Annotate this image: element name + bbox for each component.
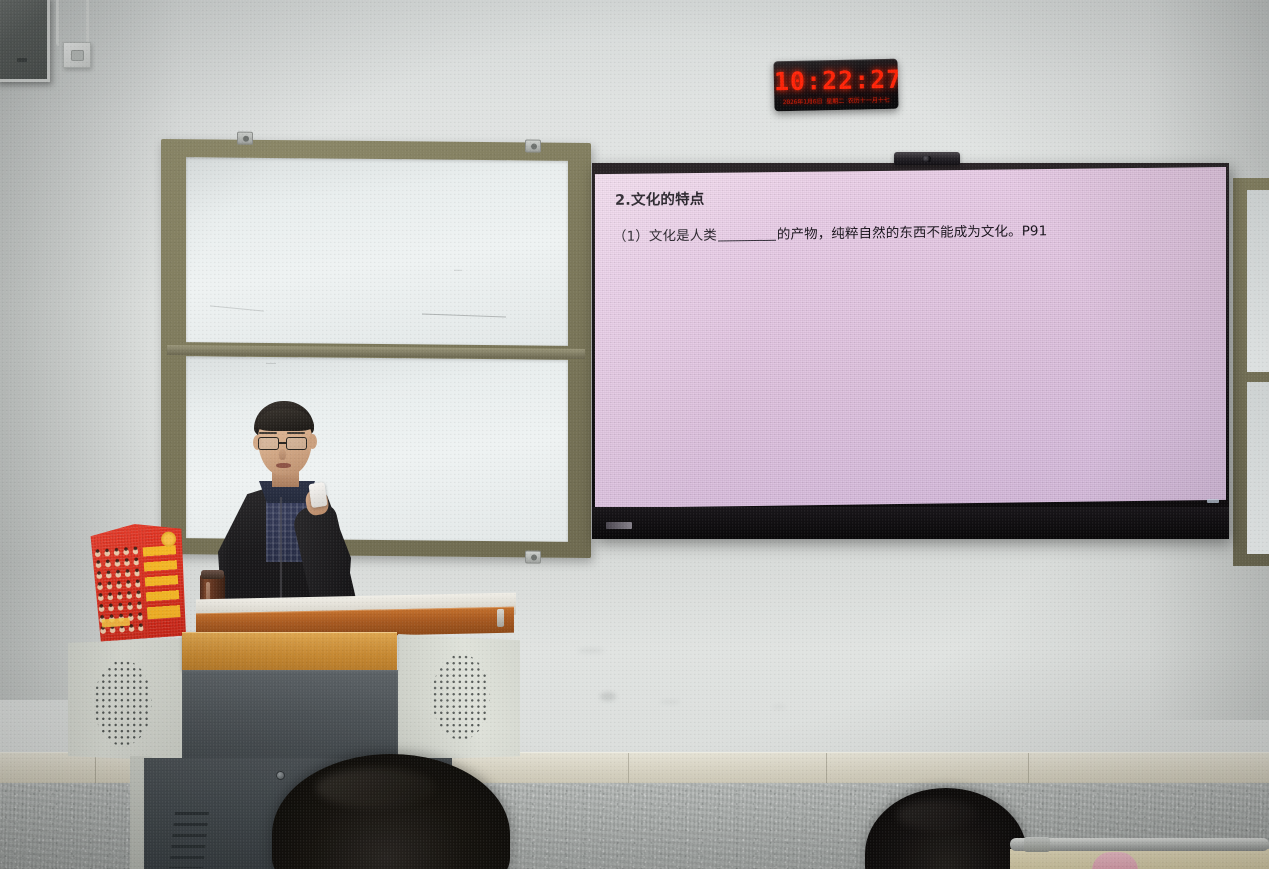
whiteboard-clip-right (525, 139, 541, 152)
classroom-photo-scene: 10:22:27 2026年1月6日 星期二 农历十一月十七 (0, 0, 1269, 869)
lecturer-glasses-right-lens (286, 437, 307, 450)
podium-front-wood-panel (182, 632, 397, 671)
speaker-port (17, 58, 27, 62)
whiteboard-clip-bottom (525, 550, 541, 563)
slide-content: 2.文化的特点 （1）文化是人类的产物，纯粹自然的东西不能成为文化。P91 (595, 163, 1226, 512)
student-left-hair-highlight (316, 768, 436, 808)
electrical-junction-box (63, 42, 91, 68)
interactive-display-screen[interactable]: 2.文化的特点 （1）文化是人类的产物，纯粹自然的东西不能成为文化。P91 (592, 163, 1229, 539)
desk-rail-clamp (1024, 837, 1050, 852)
slide-fill-blank (718, 240, 776, 242)
led-wall-clock: 10:22:27 2026年1月6日 星期二 农历十一月十七 (773, 59, 898, 112)
junction-box-socket (71, 50, 84, 61)
speaker-cable-1 (56, 0, 59, 46)
whiteboard-right-panel-top[interactable] (1247, 190, 1269, 372)
wall-smudge-2 (578, 648, 604, 653)
slide-body-suffix: 的产物，纯粹自然的东西不能成为文化。P91 (777, 223, 1047, 243)
speaker-cable-2 (86, 0, 89, 44)
lecturer-ear-right (308, 434, 317, 449)
cabinet-lock-icon[interactable] (276, 771, 285, 780)
slide-body-prefix: （1）文化是人类 (613, 228, 717, 245)
whiteboard-right-edge (1233, 178, 1269, 566)
wall-smudge-4 (772, 705, 786, 709)
wall-mounted-speaker (0, 0, 50, 82)
clock-date-display: 2026年1月6日 星期二 农历十一月十七 (774, 95, 898, 107)
lecturer-mouth (276, 463, 291, 468)
display-brand-logo-icon (606, 522, 632, 529)
held-object (308, 482, 327, 508)
camera-module-icon (894, 152, 960, 165)
podium-knob[interactable] (497, 609, 504, 627)
left-speaker-grille-icon (94, 660, 152, 746)
lecturer-glasses-left-lens (258, 437, 279, 450)
right-speaker-grille-icon (432, 654, 490, 740)
cabinet-vents-icon (169, 812, 209, 868)
student-desk-rail (1010, 838, 1269, 851)
lecturer-nose (279, 449, 286, 460)
student-desk-surface (1010, 849, 1269, 869)
slide-title: 2.文化的特点 (615, 181, 1212, 210)
podium-control-panel[interactable] (182, 670, 398, 760)
lecturer-glasses-bridge (279, 442, 286, 444)
whiteboard-panel-top[interactable] (186, 157, 568, 346)
podium-wood-grain (182, 632, 397, 671)
whiteboard-right-panel-bottom[interactable] (1247, 382, 1269, 554)
camera-lens-icon (922, 156, 931, 162)
thermos-lid (201, 570, 224, 579)
wall-smudge-3 (660, 700, 680, 704)
slide-body-line: （1）文化是人类的产物，纯粹自然的东西不能成为文化。P91 (613, 217, 1212, 245)
student-right-hair-highlight (897, 800, 979, 830)
display-power-led-icon (1207, 499, 1219, 503)
display-bottom-bezel (592, 507, 1229, 539)
whiteboard-clip-left (237, 132, 253, 145)
wall-smudge-1 (600, 692, 616, 701)
